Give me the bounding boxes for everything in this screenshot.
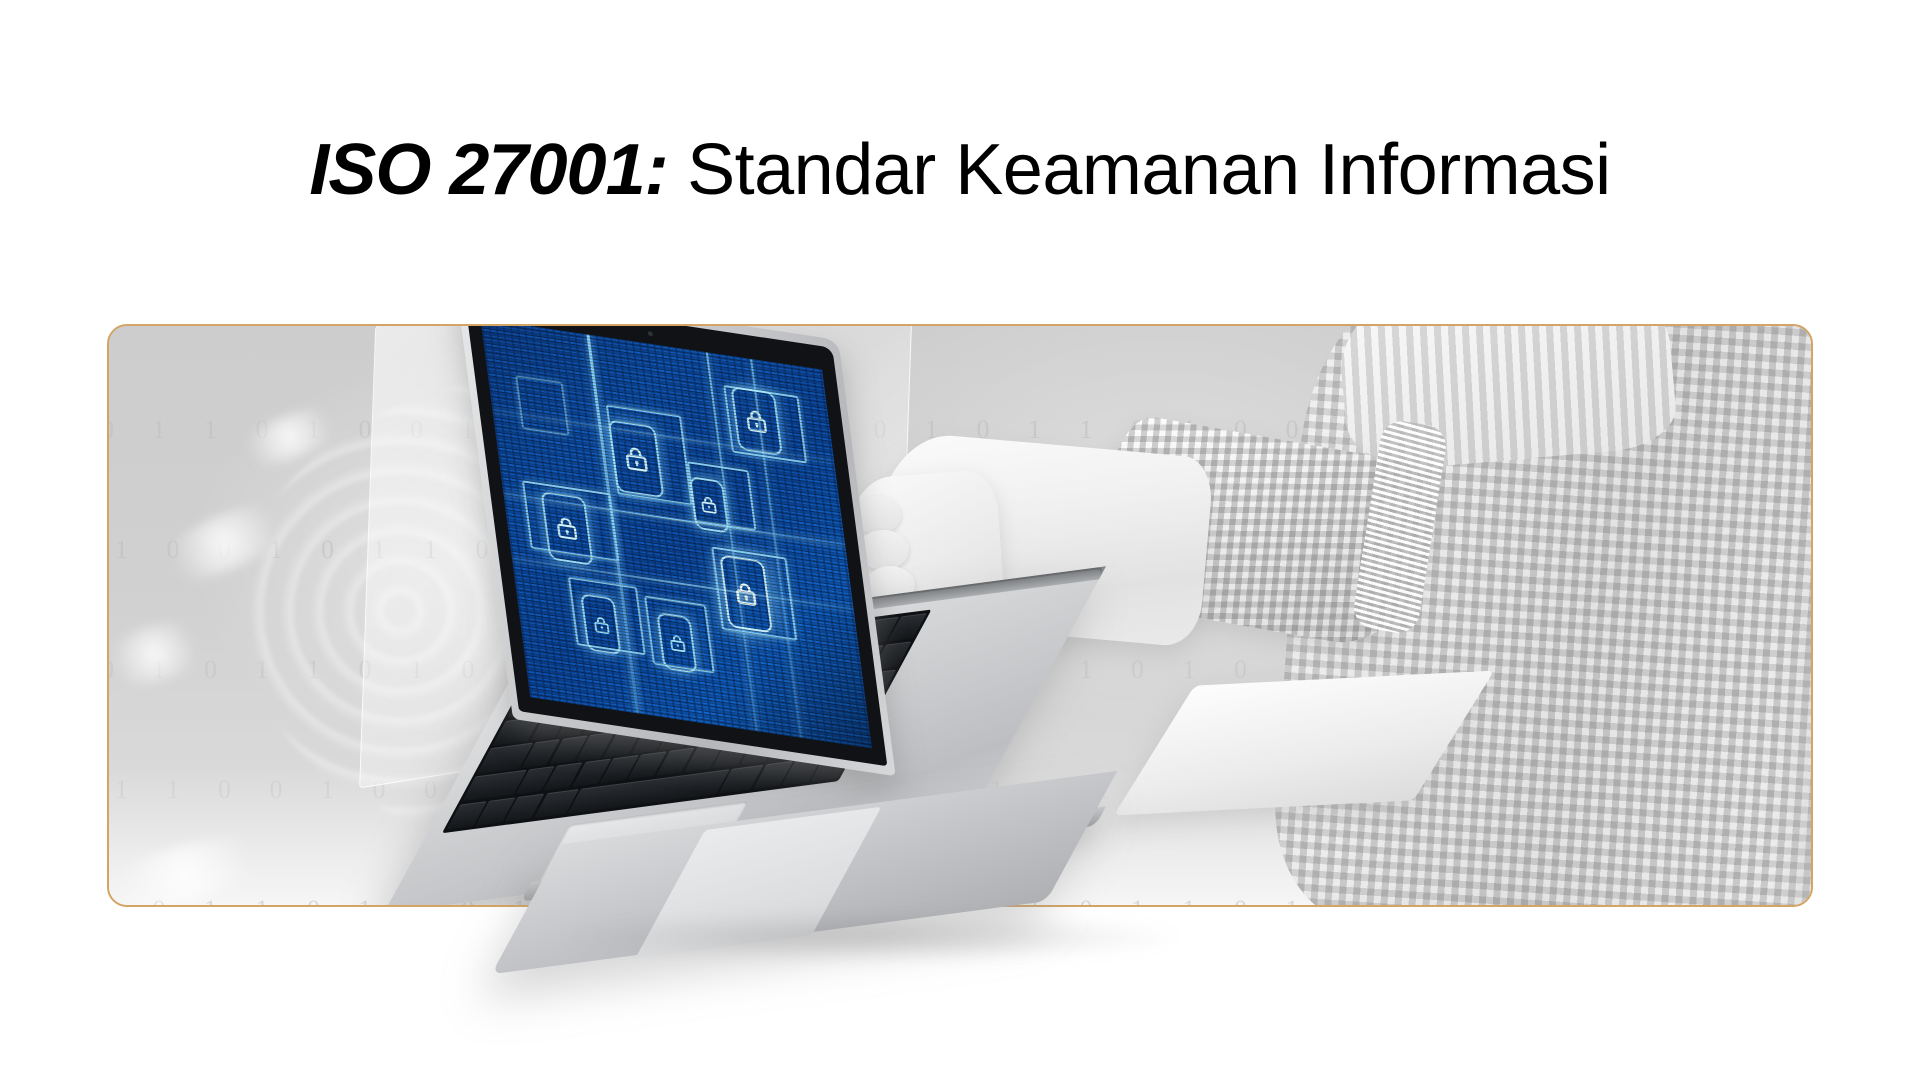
slide-canvas: ISO 27001: Standar Keamanan Informasi 0 … [0, 0, 1920, 1080]
hero-image-card: 0 1 1 0 1 0 0 1 1 0 1 0 1 1 0 0 1 0 1 1 … [107, 324, 1813, 907]
screen-scanlines [480, 324, 871, 748]
page-title: ISO 27001: Standar Keamanan Informasi [0, 134, 1920, 206]
webcam [647, 331, 653, 337]
title-emphasis: ISO 27001: [309, 130, 667, 210]
title-rest: Standar Keamanan Informasi [668, 130, 1611, 210]
laptop-device [109, 326, 1811, 905]
laptop-lid [456, 324, 896, 776]
title-line: ISO 27001: Standar Keamanan Informasi [309, 134, 1610, 206]
laptop-screen [480, 324, 871, 748]
desk-shadow [560, 912, 1180, 962]
screen-bezel [464, 324, 887, 766]
